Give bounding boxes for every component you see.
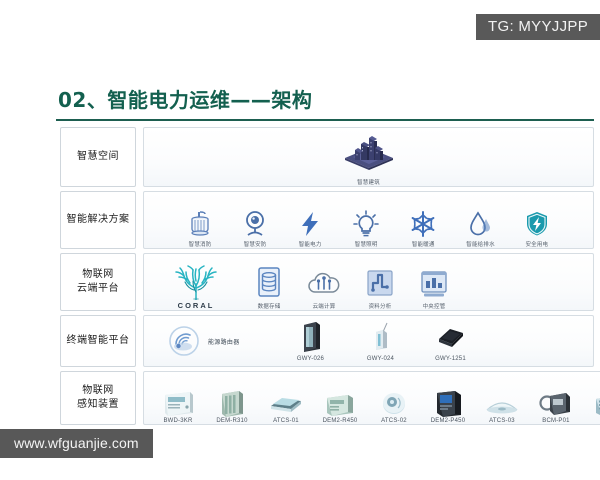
flat-sensor-icon: [267, 390, 305, 418]
coral-tree-logo: [168, 264, 224, 300]
item-caption: DEM2-P450: [431, 418, 465, 424]
row-label-line-2: 云端平台: [77, 282, 119, 297]
item-data-storage[interactable]: 数据存储: [254, 266, 284, 310]
item-caption: 能源路由器: [208, 337, 240, 346]
item-bwd-3kr[interactable]: BWD-3KR: [152, 388, 204, 424]
item-gwy-026[interactable]: GWY-026: [276, 321, 346, 362]
lightning-bolt-icon: [297, 210, 323, 238]
item-data-analysis[interactable]: 资料分析: [364, 268, 396, 310]
row-body-cloud: CORAL 数据存储: [143, 253, 594, 311]
item-di-x32[interactable]: DI-x32: [584, 390, 600, 424]
arch-row-terminal: 终端智能平台 能源路由器: [60, 315, 594, 367]
item-caption: 智能暖通: [412, 240, 435, 248]
item-bcm-p01[interactable]: BCM-P01: [530, 388, 582, 424]
row-label-line-2: 感知装置: [77, 398, 119, 413]
gateway-module-icon: [435, 321, 467, 353]
item-caption: GWY-024: [367, 356, 394, 362]
item-caption: GWY-1251: [435, 356, 466, 362]
item-dem2-r450[interactable]: DEM2-R450: [314, 390, 366, 424]
meter-box-icon: [160, 388, 196, 418]
panel-meter-icon: [431, 388, 465, 418]
item-caption: DEM-R310: [216, 418, 247, 424]
row-label-cloud[interactable]: 物联网 云端平台: [60, 253, 136, 311]
io-module-icon: [592, 390, 600, 418]
title-divider: [56, 119, 594, 121]
row-label-terminal[interactable]: 终端智能平台: [60, 315, 136, 367]
current-monitor-icon: [538, 388, 574, 418]
item-caption: DEM2-R450: [323, 418, 358, 424]
coral-wordmark: CORAL: [178, 301, 215, 310]
item-caption: 智慧消防: [189, 240, 212, 248]
item-smart-hvac[interactable]: 智能暖通: [409, 210, 437, 248]
arch-row-sensing: 物联网 感知装置: [60, 371, 594, 425]
item-smart-building[interactable]: 智慧建筑: [341, 136, 397, 186]
item-gwy-024[interactable]: GWY-024: [346, 321, 416, 362]
snowflake-icon: [409, 210, 437, 238]
item-caption: 中央控管: [423, 302, 446, 310]
water-drops-icon: [468, 210, 494, 238]
item-caption: GWY-026: [297, 356, 324, 362]
energy-router-icon: [166, 325, 202, 357]
item-caption: ATCS-03: [489, 418, 515, 424]
item-caption: 云端计算: [313, 302, 336, 310]
item-water-supply[interactable]: 智能给排水: [466, 210, 495, 248]
fire-hydrant-icon: [187, 210, 213, 238]
item-smart-fire[interactable]: 智慧消防: [187, 210, 213, 248]
arch-row-solutions: 智能解决方案: [60, 191, 594, 249]
arch-row-smart-space: 智慧空间: [60, 127, 594, 187]
row-body-sensing: BWD-3KR DEM-R310: [143, 371, 600, 425]
item-caption: 资料分析: [369, 302, 392, 310]
item-caption: 智慧建筑: [357, 178, 380, 186]
page-title: 02、智能电力运维——架构: [58, 84, 312, 113]
item-atcs-03[interactable]: ATCS-03: [476, 394, 528, 424]
shield-bolt-icon: [524, 210, 550, 238]
item-caption: 智慧照明: [355, 240, 378, 248]
row-label-smart-space[interactable]: 智慧空间: [60, 127, 136, 187]
row-label-line-1: 物联网: [77, 268, 119, 283]
item-cloud-computing[interactable]: 云端计算: [306, 268, 342, 310]
relay-module-icon: [322, 390, 358, 418]
row-body-smart-space: 智慧建筑: [143, 127, 594, 187]
central-control-icon: [418, 268, 450, 300]
item-caption: 安全用电: [525, 240, 548, 248]
item-smart-lighting[interactable]: 智慧照明: [352, 210, 380, 248]
isometric-building-icon: [341, 136, 397, 176]
item-central-control[interactable]: 中央控管: [418, 268, 450, 310]
light-bulb-icon: [352, 210, 380, 238]
item-safe-electricity[interactable]: 安全用电: [524, 210, 550, 248]
item-caption: ATCS-02: [381, 418, 407, 424]
item-caption: 智能给排水: [466, 240, 495, 248]
data-analysis-icon: [364, 268, 396, 300]
item-caption: ATCS-01: [273, 418, 299, 424]
item-dem-r310[interactable]: DEM-R310: [206, 388, 258, 424]
row-label-solutions[interactable]: 智能解决方案: [60, 191, 136, 249]
row-label-sensing[interactable]: 物联网 感知装置: [60, 371, 136, 425]
gateway-small-icon: [368, 321, 394, 353]
row-label-line-1: 物联网: [77, 384, 119, 399]
item-caption: BCM-P01: [542, 418, 569, 424]
watermark-badge: www.wfguanjie.com: [0, 429, 153, 458]
dome-sensor-icon: [483, 394, 521, 418]
din-module-icon: [215, 388, 249, 418]
arch-row-cloud: 物联网 云端平台: [60, 253, 594, 311]
item-smart-power[interactable]: 智能电力: [297, 210, 323, 248]
item-dem2-p450[interactable]: DEM2-P450: [422, 388, 474, 424]
item-caption: 智能电力: [299, 240, 322, 248]
round-detector-icon: [378, 390, 410, 418]
item-atcs-02[interactable]: ATCS-02: [368, 390, 420, 424]
cloud-compute-icon: [306, 268, 342, 300]
item-caption: BWD-3KR: [163, 418, 192, 424]
security-camera-icon: [242, 210, 268, 238]
gateway-cabinet-icon: [298, 321, 324, 353]
tg-badge: TG: MYYJJPP: [476, 14, 600, 40]
item-energy-router[interactable]: 能源路由器: [166, 325, 240, 357]
item-caption: 智慧安防: [244, 240, 267, 248]
architecture-diagram: 智慧空间: [60, 127, 594, 429]
item-caption: 数据存储: [258, 302, 281, 310]
row-body-solutions: 智慧消防 智慧安防: [143, 191, 594, 249]
item-smart-security[interactable]: 智慧安防: [242, 210, 268, 248]
item-coral[interactable]: CORAL: [160, 264, 232, 310]
database-icon: [254, 266, 284, 300]
row-body-terminal: 能源路由器 GWY-026: [143, 315, 594, 367]
item-gwy-1251[interactable]: GWY-1251: [416, 321, 486, 362]
item-atcs-01[interactable]: ATCS-01: [260, 390, 312, 424]
